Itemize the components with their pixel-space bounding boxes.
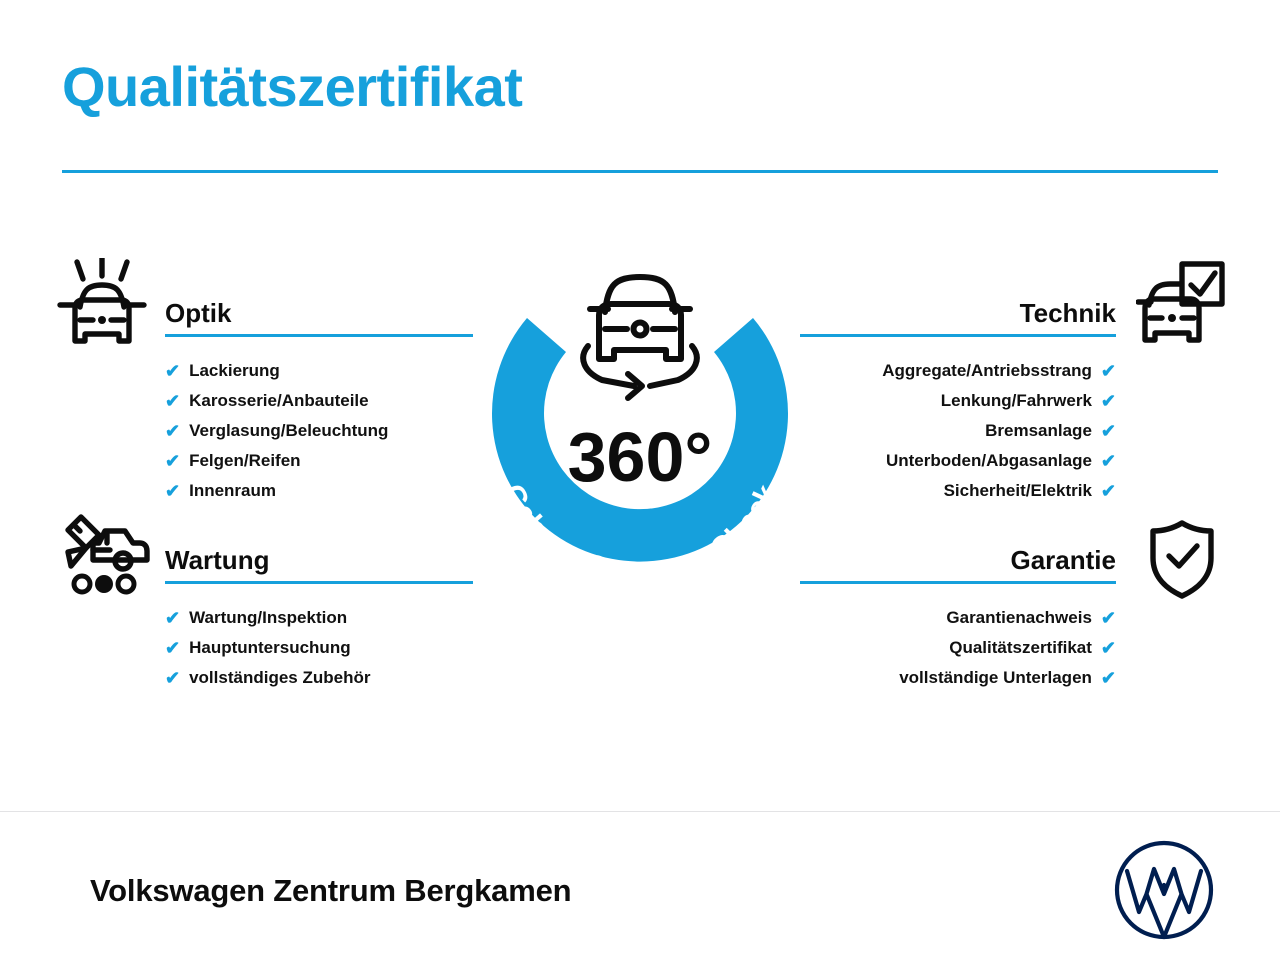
list-item-label: Garantienachweis <box>946 603 1092 633</box>
shield-check-icon <box>1146 518 1218 605</box>
page-title: Qualitätszertifikat <box>62 58 522 117</box>
section-garantie: Garantie Garantienachweis ✔ Qualitätszer… <box>800 543 1116 693</box>
list-item-label: vollständiges Zubehör <box>189 663 370 693</box>
list-item: Unterboden/Abgasanlage ✔ <box>800 446 1116 476</box>
checklist-wartung: ✔ Wartung/Inspektion ✔ Hauptuntersuchung… <box>165 603 473 693</box>
check-icon: ✔ <box>165 356 180 386</box>
list-item-label: Aggregate/Antriebsstrang <box>882 356 1092 386</box>
check-icon: ✔ <box>165 603 180 633</box>
section-divider-garantie <box>800 581 1116 584</box>
list-item: ✔ Hauptuntersuchung <box>165 633 473 663</box>
check-icon: ✔ <box>165 633 180 663</box>
list-item-label: Innenraum <box>189 476 276 506</box>
list-item: ✔ Wartung/Inspektion <box>165 603 473 633</box>
check-icon: ✔ <box>1101 446 1116 476</box>
car-checkbox-icon <box>1136 258 1228 355</box>
list-item-label: Felgen/Reifen <box>189 446 300 476</box>
check-icon: ✔ <box>165 446 180 476</box>
badge-center-label: 360° <box>568 418 713 496</box>
car-polish-icon <box>57 258 147 355</box>
list-item-label: vollständige Unterlagen <box>899 663 1092 693</box>
check-icon: ✔ <box>1101 356 1116 386</box>
check-icon: ✔ <box>1101 603 1116 633</box>
section-title-optik: Optik <box>165 296 473 330</box>
check-icon: ✔ <box>165 386 180 416</box>
dealer-name: Volkswagen Zentrum Bergkamen <box>90 873 571 909</box>
list-item-label: Wartung/Inspektion <box>189 603 347 633</box>
list-item: ✔ Verglasung/Beleuchtung <box>165 416 473 446</box>
list-item-label: Lenkung/Fahrwerk <box>941 386 1092 416</box>
list-item-label: Karosserie/Anbauteile <box>189 386 369 416</box>
list-item-label: Verglasung/Beleuchtung <box>189 416 388 446</box>
list-item: Qualitätszertifikat ✔ <box>800 633 1116 663</box>
check-icon: ✔ <box>1101 633 1116 663</box>
list-item-label: Hauptuntersuchung <box>189 633 351 663</box>
list-item: ✔ Innenraum <box>165 476 473 506</box>
section-divider-technik <box>800 334 1116 337</box>
footer-divider <box>0 811 1280 812</box>
section-divider-wartung <box>165 581 473 584</box>
check-icon: ✔ <box>165 416 180 446</box>
gebrauchtwagen-check-badge: 360° Gebrauchtwagen-Check <box>465 246 815 618</box>
car-service-pencil-icon <box>55 508 153 605</box>
list-item: Lenkung/Fahrwerk ✔ <box>800 386 1116 416</box>
check-icon: ✔ <box>1101 663 1116 693</box>
volkswagen-logo <box>1110 836 1218 944</box>
section-title-garantie: Garantie <box>800 543 1116 577</box>
section-title-technik: Technik <box>800 296 1116 330</box>
list-item: ✔ Felgen/Reifen <box>165 446 473 476</box>
list-item-label: Unterboden/Abgasanlage <box>886 446 1092 476</box>
header-divider <box>62 170 1218 173</box>
checklist-optik: ✔ Lackierung ✔ Karosserie/Anbauteile ✔ V… <box>165 356 473 506</box>
list-item: Aggregate/Antriebsstrang ✔ <box>800 356 1116 386</box>
list-item-label: Qualitätszertifikat <box>949 633 1092 663</box>
check-icon: ✔ <box>1101 416 1116 446</box>
section-divider-optik <box>165 334 473 337</box>
checklist-garantie: Garantienachweis ✔ Qualitätszertifikat ✔… <box>800 603 1116 693</box>
car-front-rotate-icon <box>583 277 697 398</box>
quality-certificate-page: Qualitätszertifikat <box>0 0 1280 960</box>
list-item-label: Lackierung <box>189 356 280 386</box>
list-item: ✔ Lackierung <box>165 356 473 386</box>
section-technik: Technik Aggregate/Antriebsstrang ✔ Lenku… <box>800 296 1116 506</box>
list-item-label: Sicherheit/Elektrik <box>944 476 1092 506</box>
section-wartung: Wartung ✔ Wartung/Inspektion ✔ Hauptunte… <box>165 543 473 693</box>
list-item: vollständige Unterlagen ✔ <box>800 663 1116 693</box>
section-title-wartung: Wartung <box>165 543 473 577</box>
list-item: Garantienachweis ✔ <box>800 603 1116 633</box>
check-icon: ✔ <box>165 476 180 506</box>
check-icon: ✔ <box>1101 476 1116 506</box>
checklist-technik: Aggregate/Antriebsstrang ✔ Lenkung/Fahrw… <box>800 356 1116 506</box>
list-item-label: Bremsanlage <box>985 416 1092 446</box>
list-item: ✔ vollständiges Zubehör <box>165 663 473 693</box>
list-item: Bremsanlage ✔ <box>800 416 1116 446</box>
list-item: Sicherheit/Elektrik ✔ <box>800 476 1116 506</box>
check-icon: ✔ <box>1101 386 1116 416</box>
list-item: ✔ Karosserie/Anbauteile <box>165 386 473 416</box>
check-icon: ✔ <box>165 663 180 693</box>
section-optik: Optik ✔ Lackierung ✔ Karosserie/Anbautei… <box>165 296 473 506</box>
